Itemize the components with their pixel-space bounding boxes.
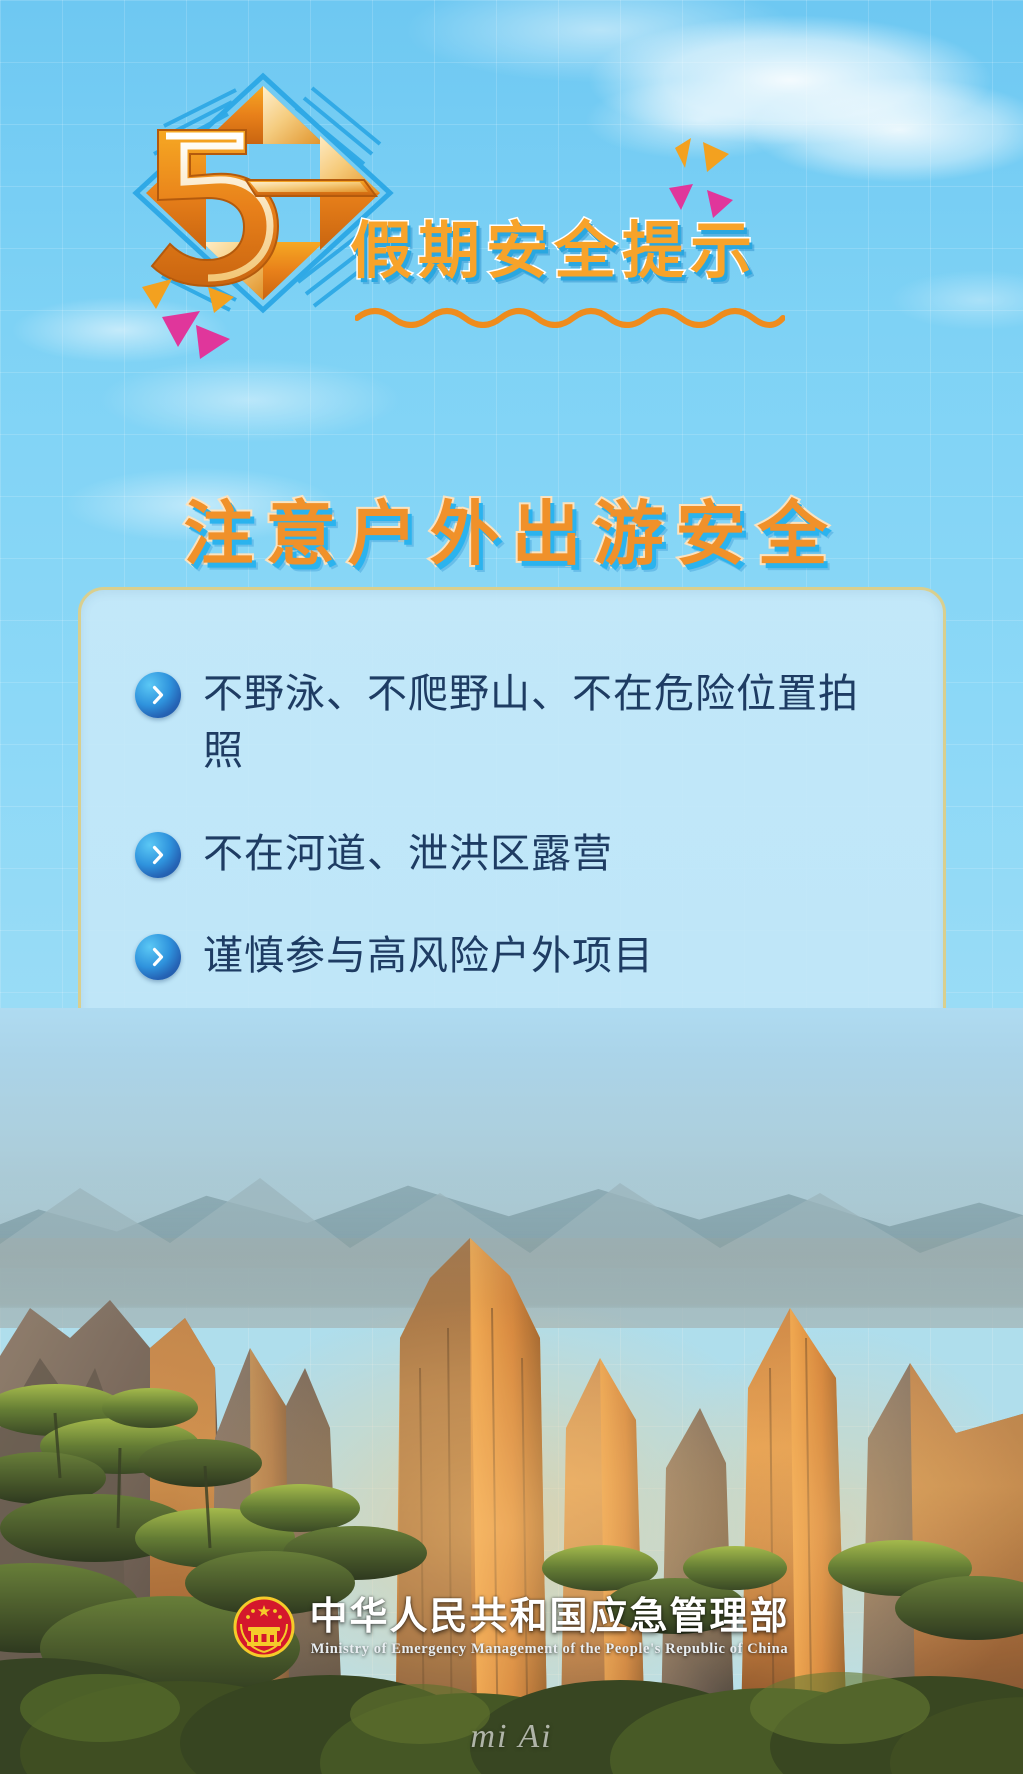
list-item: 不在河道、泄洪区露营 bbox=[135, 826, 903, 883]
signature-watermark: mi Ai bbox=[0, 1718, 1023, 1756]
organization-name-en: Ministry of Emergency Management of the … bbox=[309, 1641, 789, 1658]
list-item-text: 谨慎参与高风险户外项目 bbox=[203, 928, 654, 985]
list-item-text: 不在河道、泄洪区露营 bbox=[203, 826, 613, 883]
tips-list: 不野泳、不爬野山、不在危险位置拍照 不在河道、泄洪区露营 谨慎参与高风险户外项目 bbox=[135, 666, 903, 985]
header-banner: 假期安全提示 bbox=[0, 40, 1023, 340]
list-item: 不野泳、不爬野山、不在危险位置拍照 bbox=[135, 666, 903, 780]
orange-wave-underline bbox=[355, 302, 785, 328]
confetti-left-cluster bbox=[138, 265, 248, 365]
holiday-title: 假期安全提示 bbox=[350, 200, 758, 290]
list-item: 谨慎参与高风险户外项目 bbox=[135, 928, 903, 985]
mountain-cliffs-photograph bbox=[0, 1008, 1023, 1774]
page-title: 注意户外出游安全 bbox=[0, 478, 1023, 579]
chevron-right-circle-icon bbox=[135, 672, 181, 718]
poster-root: 假期安全提示 注意户外出游安全 不野泳、不爬野山、不在危险位置拍照 bbox=[0, 0, 1023, 1774]
chevron-right-circle-icon bbox=[135, 934, 181, 980]
footer-text-block: 中华人民共和国应急管理部 Ministry of Emergency Manag… bbox=[309, 1596, 789, 1658]
list-item-text: 不野泳、不爬野山、不在危险位置拍照 bbox=[203, 666, 893, 780]
footer-branding: 中华人民共和国应急管理部 Ministry of Emergency Manag… bbox=[0, 1596, 1023, 1658]
chevron-right-circle-icon bbox=[135, 832, 181, 878]
organization-name-cn: 中华人民共和国应急管理部 bbox=[309, 1596, 789, 1638]
china-national-emblem bbox=[233, 1596, 295, 1658]
